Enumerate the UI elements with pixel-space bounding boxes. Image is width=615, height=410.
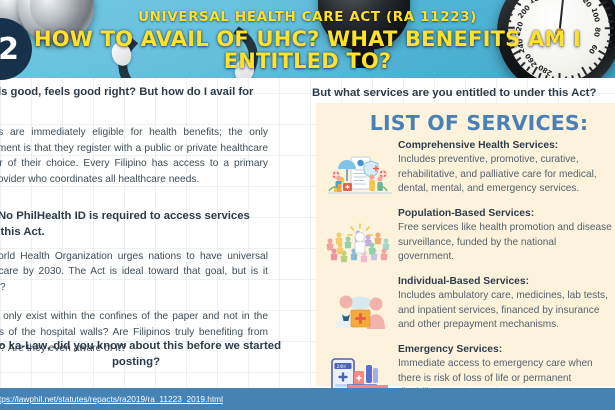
comprehensive-health-illustration (324, 147, 396, 203)
hero-text-block: UNIVERSAL HEALTH CARE ACT (RA 11223) HOW… (0, 0, 615, 73)
service-text: Comprehensive Health Services:Includes p… (396, 139, 612, 196)
services-list: Comprehensive Health Services:Includes p… (324, 139, 612, 407)
infographic-slide: 2802602402202001801601401201008060 UNIVE… (0, 0, 615, 410)
service-name: Comprehensive Health Services: (398, 139, 612, 152)
right-intro-text: But what services are you entitled to un… (312, 86, 615, 101)
service-name: Emergency Services: (398, 343, 612, 356)
section-number: 2 (0, 32, 18, 67)
service-item: Individual-Based Services:Includes ambul… (324, 275, 612, 339)
source-bar: https://lawphil.net/statutes/repacts/ra2… (0, 388, 615, 410)
left-note-heading: Note: No PhilHealth ID is required to ac… (0, 208, 268, 240)
closing-question: So ka-Law, did you know about this befor… (0, 338, 282, 370)
left-question-1-heading: Sounds good, feels good right? But how d… (0, 84, 268, 116)
left-note-body: The World Health Organization urges nati… (0, 249, 268, 296)
svg-text:24H: 24H (337, 364, 346, 370)
left-question-1-body: Filipinos are immediately eligible for h… (0, 125, 268, 187)
hero-kicker: UNIVERSAL HEALTH CARE ACT (RA 11223) (0, 9, 615, 25)
service-name: Individual-Based Services: (398, 275, 612, 288)
left-text-column: Sounds good, feels good right? But how d… (0, 84, 268, 370)
header-hero: 2802602402202001801601401201008060 UNIVE… (0, 0, 615, 78)
service-text: Population-Based Services:Free services … (396, 207, 612, 264)
service-item: Population-Based Services:Free services … (324, 207, 612, 271)
list-of-services-title: LIST OF SERVICES: (346, 111, 612, 135)
population-crowd-illustration (324, 215, 396, 271)
service-description: Free services like health promotion and … (398, 221, 612, 264)
hero-title: HOW TO AVAIL OF UHC? WHAT BENEFITS AM I … (0, 28, 615, 73)
service-item: Comprehensive Health Services:Includes p… (324, 139, 612, 203)
doctor-patient-illustration (324, 283, 396, 339)
service-name: Population-Based Services: (398, 207, 612, 220)
service-text: Individual-Based Services:Includes ambul… (396, 275, 612, 332)
service-description: Includes ambulatory care, medicines, lab… (398, 289, 612, 332)
list-of-services-card: LIST OF SERVICES: Comprehensive Health S… (316, 103, 615, 386)
source-link[interactable]: https://lawphil.net/statutes/repacts/ra2… (0, 394, 223, 404)
service-description: Includes preventive, promotive, curative… (398, 153, 612, 196)
